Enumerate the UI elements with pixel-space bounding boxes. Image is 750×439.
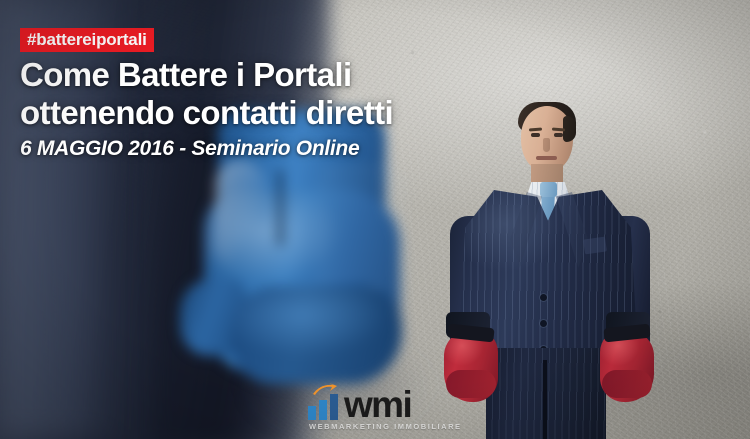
bar-chart-icon [308, 392, 342, 420]
logo-wordmark: wmi [344, 385, 411, 425]
hashtag-badge: #battereiportali [20, 28, 154, 52]
blue-glove-seam [278, 170, 283, 246]
event-date-subheadline: 6 MAGGIO 2016 - Seminario Online [20, 137, 620, 161]
banner-text-block: #battereiportali Come Battere i Portali … [20, 28, 620, 161]
promo-banner: #battereiportali Come Battere i Portali … [0, 0, 750, 439]
blue-glove-highlight [214, 160, 266, 270]
chart-bar-1 [308, 406, 316, 420]
trouser-leg-seam [543, 360, 547, 439]
wmi-logo: wmi WEBMARKETING IMMOBILIARE [308, 383, 458, 431]
chart-bar-3 [330, 394, 338, 420]
jacket-button-2 [540, 320, 547, 327]
logo-tagline: WEBMARKETING IMMOBILIARE [309, 422, 462, 431]
blue-boxing-glove [196, 150, 446, 400]
necktie-knot [540, 182, 557, 197]
red-glove-pad-right [602, 370, 652, 398]
blue-glove-knuckle-pad [230, 286, 402, 384]
headline-line-1: Come Battere i Portali [20, 56, 620, 94]
headline-line-2: ottenendo contatti diretti [20, 94, 620, 132]
jacket-button-1 [540, 294, 547, 301]
up-arrow-icon [312, 383, 338, 395]
jacket-pocket [583, 237, 607, 255]
chart-bar-2 [319, 400, 327, 420]
